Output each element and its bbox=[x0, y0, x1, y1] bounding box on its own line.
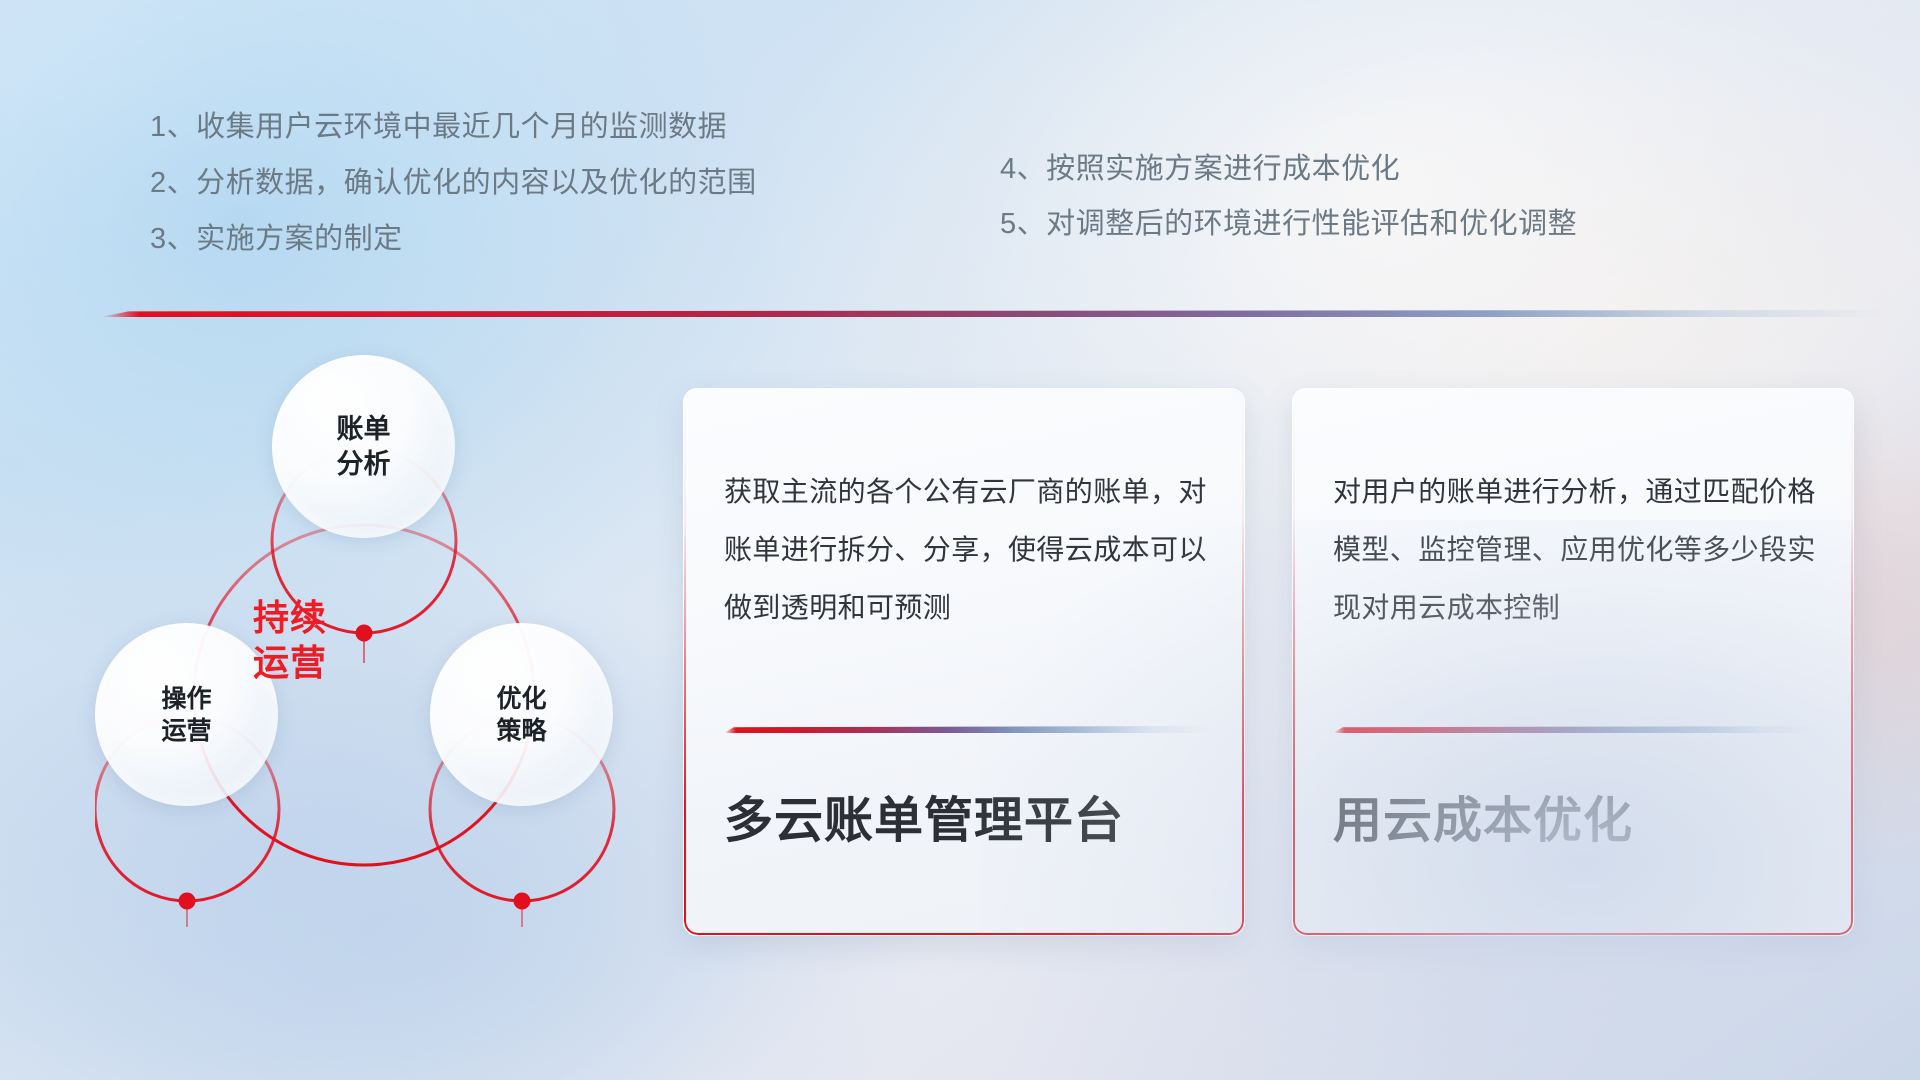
feature-card-title: 多云账单管理平台 bbox=[724, 781, 1124, 852]
venn-node-dot-bottom-left bbox=[179, 893, 196, 910]
step-item-1: 1、收集用户云环境中最近几个月的监测数据 bbox=[150, 113, 757, 142]
card-divider-line bbox=[1333, 726, 1819, 733]
step-item-5: 5、对调整后的环境进行性能评估和优化调整 bbox=[1000, 210, 1577, 239]
venn-node-dot-bottom-right bbox=[514, 893, 531, 910]
feature-card-body: 获取主流的各个公有云厂商的账单，对账单进行拆分、分享，使得云成本可以做到透明和可… bbox=[724, 463, 1210, 638]
feature-card-cloud-cost-optimization[interactable]: 对用户的账单进行分析，通过匹配价格模型、监控管理、应用优化等多少段实现对用云成本… bbox=[1292, 388, 1854, 936]
venn-center-label: 持续 运营 bbox=[190, 595, 390, 686]
card-divider-line bbox=[724, 726, 1210, 733]
venn-circle-bill-analysis-line1: 账单 bbox=[337, 412, 391, 447]
feature-card-multicloud-billing[interactable]: 获取主流的各个公有云厂商的账单，对账单进行拆分、分享，使得云成本可以做到透明和可… bbox=[683, 388, 1245, 936]
step-item-3: 3、实施方案的制定 bbox=[150, 225, 757, 254]
step-item-4: 4、按照实施方案进行成本优化 bbox=[1000, 155, 1577, 184]
step-item-2: 2、分析数据，确认优化的内容以及优化的范围 bbox=[150, 169, 757, 198]
feature-card-title: 用云成本优化 bbox=[1333, 781, 1633, 852]
steps-left-column: 1、收集用户云环境中最近几个月的监测数据 2、分析数据，确认优化的内容以及优化的… bbox=[150, 113, 757, 254]
venn-circle-optimization-strategy-line1: 优化 bbox=[496, 683, 546, 715]
venn-circle-optimization-strategy[interactable]: 优化 策略 bbox=[430, 623, 613, 806]
steps-right-column: 4、按照实施方案进行成本优化 5、对调整后的环境进行性能评估和优化调整 bbox=[1000, 155, 1577, 265]
venn-circle-optimization-strategy-line2: 策略 bbox=[496, 715, 546, 747]
section-divider-line bbox=[100, 310, 1890, 317]
venn-center-label-line2: 运营 bbox=[190, 640, 390, 685]
venn-circle-bill-analysis[interactable]: 账单 分析 bbox=[272, 355, 455, 538]
slide-canvas: 1、收集用户云环境中最近几个月的监测数据 2、分析数据，确认优化的内容以及优化的… bbox=[0, 0, 1920, 1080]
venn-circle-bill-analysis-line2: 分析 bbox=[337, 447, 391, 482]
venn-circle-operations-line1: 操作 bbox=[161, 683, 211, 715]
feature-card-body: 对用户的账单进行分析，通过匹配价格模型、监控管理、应用优化等多少段实现对用云成本… bbox=[1333, 463, 1819, 638]
venn-circle-operations-line2: 运营 bbox=[161, 715, 211, 747]
venn-center-label-line1: 持续 bbox=[190, 595, 390, 640]
